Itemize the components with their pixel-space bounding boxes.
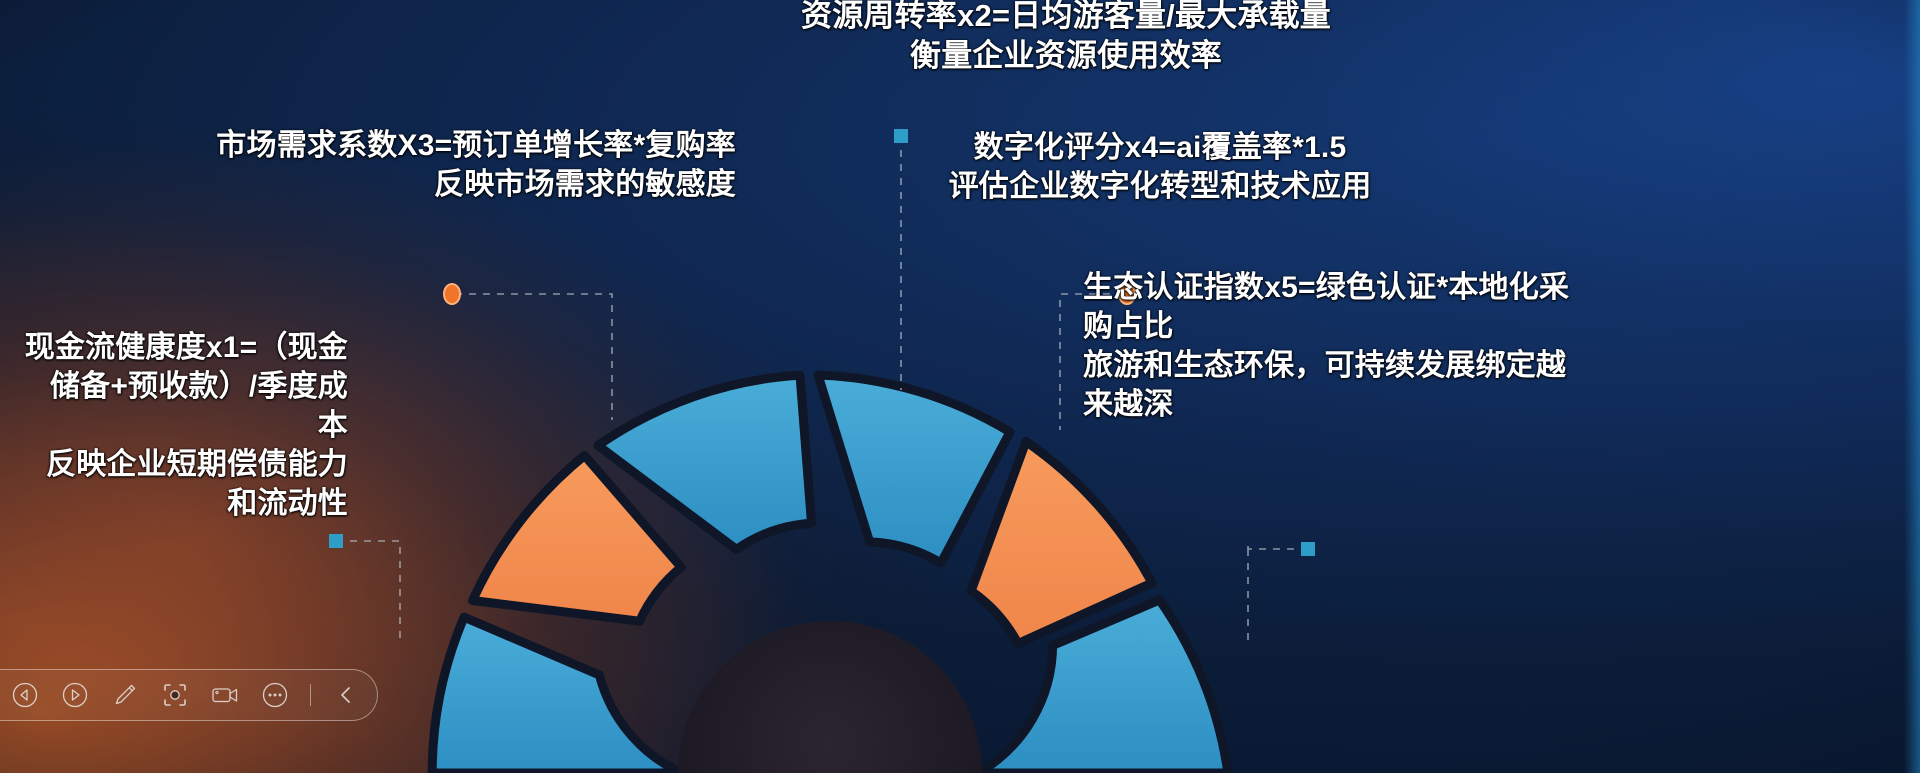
chevron-left-circle-icon [12,682,38,708]
ellipsis-circle-icon [262,682,288,708]
play-circle-icon [62,682,88,708]
toolbar-divider [310,684,311,706]
connector-x1 [336,541,400,640]
collapse-toolbar-button[interactable] [331,680,361,710]
play-button[interactable] [60,680,90,710]
connector-x3 [455,294,612,420]
connector-x5 [1248,545,1308,549]
previous-slide-button[interactable] [10,680,40,710]
video-camera-icon [210,682,240,708]
marker-x2-square [894,129,908,143]
chevron-left-icon [334,682,358,708]
annotation-x4-digital-score: 数字化评分x4=ai覆盖率*1.5 评估企业数字化转型和技术应用 [930,128,1390,206]
more-options-button[interactable] [260,680,290,710]
marker-x3-dot [444,284,460,304]
pencil-icon [111,681,139,709]
annotation-x3-market-demand: 市场需求系数X3=预订单增长率*复购率 反映市场需求的敏感度 [196,126,736,204]
focus-target-icon [161,681,189,709]
presentation-toolbar[interactable] [0,669,378,721]
pen-button[interactable] [110,680,140,710]
marker-x1-square [329,534,343,548]
marker-x5-square [1301,542,1315,556]
laser-pointer-button[interactable] [160,680,190,710]
annotation-x5-eco-certification: 生态认证指数x5=绿色认证*本地化采 购占比 旅游和生态环保，可持续发展绑定越 … [1083,268,1603,424]
annotation-x2-resource-turnover: 资源周转率x2=日均游客量/最大承载量 衡量企业资源使用效率 [716,0,1416,77]
annotation-x1-cash-flow-health: 现金流健康度x1=（现金 储备+预收款）/季度成 本 反映企业短期偿债能力 和流… [8,328,348,523]
camera-button[interactable] [210,680,240,710]
